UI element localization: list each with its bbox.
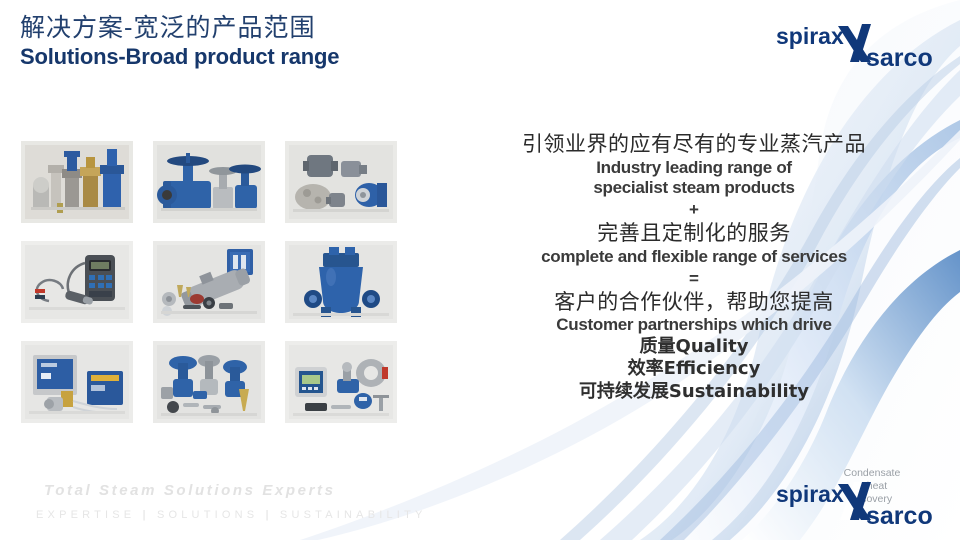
spirax-sarco-logo-top: spirax sarco (758, 18, 938, 74)
footer-pillar-expertise: EXPERTISE (36, 509, 135, 521)
heat-exchangers-image (153, 241, 265, 323)
product-thumb-steam-traps[interactable] (284, 140, 398, 224)
diagnostic-meter-image (21, 241, 133, 323)
steam-traps-image (285, 141, 397, 223)
message-line-2: Industry leading range of (470, 158, 918, 179)
footer-separator-1: | (143, 509, 150, 521)
product-gallery (20, 140, 396, 422)
message-operator-equals: = (470, 268, 918, 290)
message-line-3: specialist steam products (470, 178, 918, 199)
product-thumb-condensate-pump[interactable] (284, 240, 398, 324)
message-line-efficiency: 效率Efficiency (470, 358, 918, 381)
message-line-8: 客户的合作伙伴，帮助您提高 (470, 290, 918, 316)
product-thumb-level-controllers[interactable] (20, 340, 134, 424)
message-line-6: complete and flexible range of services (470, 247, 918, 268)
page-title-chinese: 解决方案-宽泛的产品范围 (20, 14, 339, 43)
logo-bottom-word-sarco: sarco (866, 502, 933, 530)
product-thumb-flow-metering[interactable] (284, 340, 398, 424)
control-valves-image (153, 341, 265, 423)
message-line-5: 完善且定制化的服务 (470, 221, 918, 247)
page-title-english: Solutions-Broad product range (20, 44, 339, 69)
product-thumb-isolation-valves[interactable] (152, 140, 266, 224)
message-block: 引领业界的应有尽有的专业蒸汽产品 Industry leading range … (470, 132, 918, 403)
slide-canvas: 解决方案-宽泛的产品范围 Solutions-Broad product ran… (0, 0, 960, 540)
logo-bottom-word-spirax: spirax (776, 481, 844, 507)
product-thumb-control-valves[interactable] (152, 340, 266, 424)
isolation-valves-image (153, 141, 265, 223)
product-thumb-heat-exchangers[interactable] (152, 240, 266, 324)
safety-valves-image (21, 141, 133, 223)
product-thumb-safety-valves[interactable] (20, 140, 134, 224)
footer-pillar-solutions: SOLUTIONS (157, 509, 258, 521)
level-controllers-image (21, 341, 133, 423)
logo-top-word-sarco: sarco (866, 44, 933, 72)
message-line-quality: 质量Quality (470, 336, 918, 359)
message-line-sustainability: 可持续发展Sustainability (470, 381, 918, 404)
footer-pillar-sustainability: SUSTAINABILITY (280, 509, 427, 521)
spirax-sarco-logo-bottom: spirax sarco (766, 476, 938, 530)
footer-pillars: EXPERTISE | SOLUTIONS | SUSTAINABILITY (36, 509, 427, 521)
footer-separator-2: | (266, 509, 273, 521)
condensate-pump-image (285, 241, 397, 323)
flow-metering-image (285, 341, 397, 423)
message-line-9: Customer partnerships which drive (470, 315, 918, 336)
message-line-1: 引领业界的应有尽有的专业蒸汽产品 (470, 132, 918, 158)
page-title: 解决方案-宽泛的产品范围 Solutions-Broad product ran… (20, 14, 339, 69)
footer-tagline: Total Steam Solutions Experts (44, 482, 336, 499)
logo-top-word-spirax: spirax (776, 23, 844, 49)
product-thumb-diagnostic-meter[interactable] (20, 240, 134, 324)
message-operator-plus: + (470, 199, 918, 221)
